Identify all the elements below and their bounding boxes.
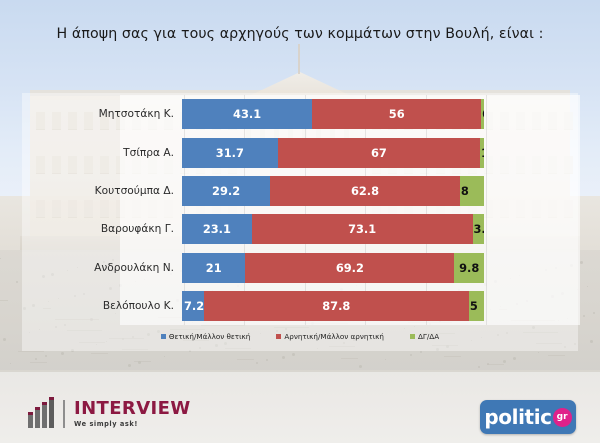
bar-segment[interactable]: 3.8 <box>473 214 484 244</box>
legend-swatch <box>410 334 415 339</box>
stacked-bar: 7.287.85 <box>182 291 484 321</box>
ground-speck <box>45 355 47 357</box>
legend-item[interactable]: Αρνητική/Μάλλον αρνητική <box>276 332 384 341</box>
ground-streak <box>30 362 47 363</box>
ground-streak <box>91 353 108 354</box>
table-row: Ανδρουλάκη Ν.2169.29.8 <box>0 249 600 287</box>
ground-streak <box>134 361 151 362</box>
legend-label: Αρνητική/Μάλλον αρνητική <box>284 332 384 341</box>
table-row: Κουτσούμπα Δ.29.262.88 <box>0 172 600 210</box>
legend-label: Θετική/Μάλλον θετική <box>169 332 251 341</box>
table-row: Βαρουφάκη Γ.23.173.13.8 <box>0 210 600 248</box>
ground-speck <box>10 363 11 364</box>
stacked-bar: 31.7671.3 <box>182 138 484 168</box>
ground-speck <box>256 362 258 364</box>
ground-speck <box>410 354 412 356</box>
bar-category-label: Βαρουφάκη Γ. <box>0 223 182 235</box>
ground-streak <box>487 364 504 365</box>
bar-segment[interactable]: 23.1 <box>182 214 252 244</box>
bar-segment[interactable]: 7.2 <box>182 291 204 321</box>
bar-segment[interactable]: 21 <box>182 253 245 283</box>
bar-segment[interactable]: 29.2 <box>182 176 270 206</box>
bar-segment[interactable]: 62.8 <box>270 176 460 206</box>
bar-category-label: Ανδρουλάκη Ν. <box>0 262 182 274</box>
bar-segment[interactable]: 67 <box>278 138 480 168</box>
stacked-bar: 43.1560.9 <box>182 99 484 129</box>
ground-speck <box>385 359 386 360</box>
bar-segment[interactable]: 43.1 <box>182 99 312 129</box>
ground-speck <box>282 356 285 359</box>
ground-streak <box>18 351 44 352</box>
politic-gr-badge: gr <box>553 408 572 427</box>
bar-segment[interactable]: 73.1 <box>252 214 473 244</box>
table-row: Μητσοτάκη Κ.43.1560.9 <box>0 95 600 133</box>
legend-label: ΔΓ/ΔΑ <box>418 332 439 341</box>
ground-speck <box>61 352 64 355</box>
ground-speck <box>35 358 37 360</box>
ground-streak <box>341 358 358 359</box>
politic-name: politic <box>484 405 551 429</box>
ground-speck <box>164 356 165 357</box>
bar-segment[interactable]: 9.8 <box>454 253 484 283</box>
ground-speck <box>420 351 422 353</box>
politic-gr-text: gr <box>557 412 568 422</box>
ground-speck <box>503 360 506 363</box>
bar-chart-icon <box>28 400 54 428</box>
stacked-bar: 29.262.88 <box>182 176 484 206</box>
legend-swatch <box>276 334 281 339</box>
ground-speck <box>292 353 295 356</box>
bar-category-label: Τσίπρα Α. <box>0 147 182 159</box>
ground-speck <box>359 365 362 368</box>
interview-logo: INTERVIEW We simply ask! <box>28 400 191 428</box>
ground-speck <box>266 359 268 361</box>
ground-streak <box>444 356 461 357</box>
logo-divider <box>63 400 65 428</box>
stacked-bar: 23.173.13.8 <box>182 214 484 244</box>
bar-rows: Μητσοτάκη Κ.43.1560.9Τσίπρα Α.31.7671.3Κ… <box>0 95 600 325</box>
legend-item[interactable]: Θετική/Μάλλον θετική <box>161 332 251 341</box>
legend-swatch <box>161 334 166 339</box>
legend-item[interactable]: ΔΓ/ΔΑ <box>410 332 439 341</box>
politic-logo[interactable]: politic gr <box>480 400 576 434</box>
poll-chart-slide: Η άποψη σας για τους αρχηγούς των κομμάτ… <box>0 0 600 443</box>
chart-legend: Θετική/Μάλλον θετικήΑρνητική/Μάλλον αρνη… <box>0 332 600 341</box>
table-row: Βελόπουλο Κ.7.287.85 <box>0 287 600 325</box>
bar-segment[interactable]: 0.9 <box>481 99 484 129</box>
bar-category-label: Βελόπουλο Κ. <box>0 300 182 312</box>
bar-segment[interactable]: 87.8 <box>204 291 469 321</box>
ground-speck <box>128 364 131 367</box>
interview-logo-text: INTERVIEW We simply ask! <box>74 400 191 428</box>
ground-speck <box>538 352 539 353</box>
stacked-bar: 2169.29.8 <box>182 253 484 283</box>
bar-segment[interactable]: 31.7 <box>182 138 278 168</box>
table-row: Τσίπρα Α.31.7671.3 <box>0 134 600 172</box>
bar-segment[interactable]: 69.2 <box>245 253 454 283</box>
bar-category-label: Μητσοτάκη Κ. <box>0 108 182 120</box>
ground-speck <box>478 366 480 368</box>
interview-name: INTERVIEW <box>74 400 191 418</box>
bar-segment[interactable]: 5 <box>469 291 484 321</box>
ground-speck <box>513 357 516 360</box>
bar-segment[interactable]: 56 <box>312 99 481 129</box>
ground-streak <box>237 359 254 360</box>
bar-segment[interactable]: 8 <box>460 176 484 206</box>
interview-tagline: We simply ask! <box>74 421 191 428</box>
ground-streak <box>548 355 565 356</box>
bar-segment[interactable]: 1.3 <box>480 138 484 168</box>
flagpole <box>298 44 300 74</box>
page-title: Η άποψη σας για τους αρχηγούς των κομμάτ… <box>0 26 600 42</box>
bar-category-label: Κουτσούμπα Δ. <box>0 185 182 197</box>
